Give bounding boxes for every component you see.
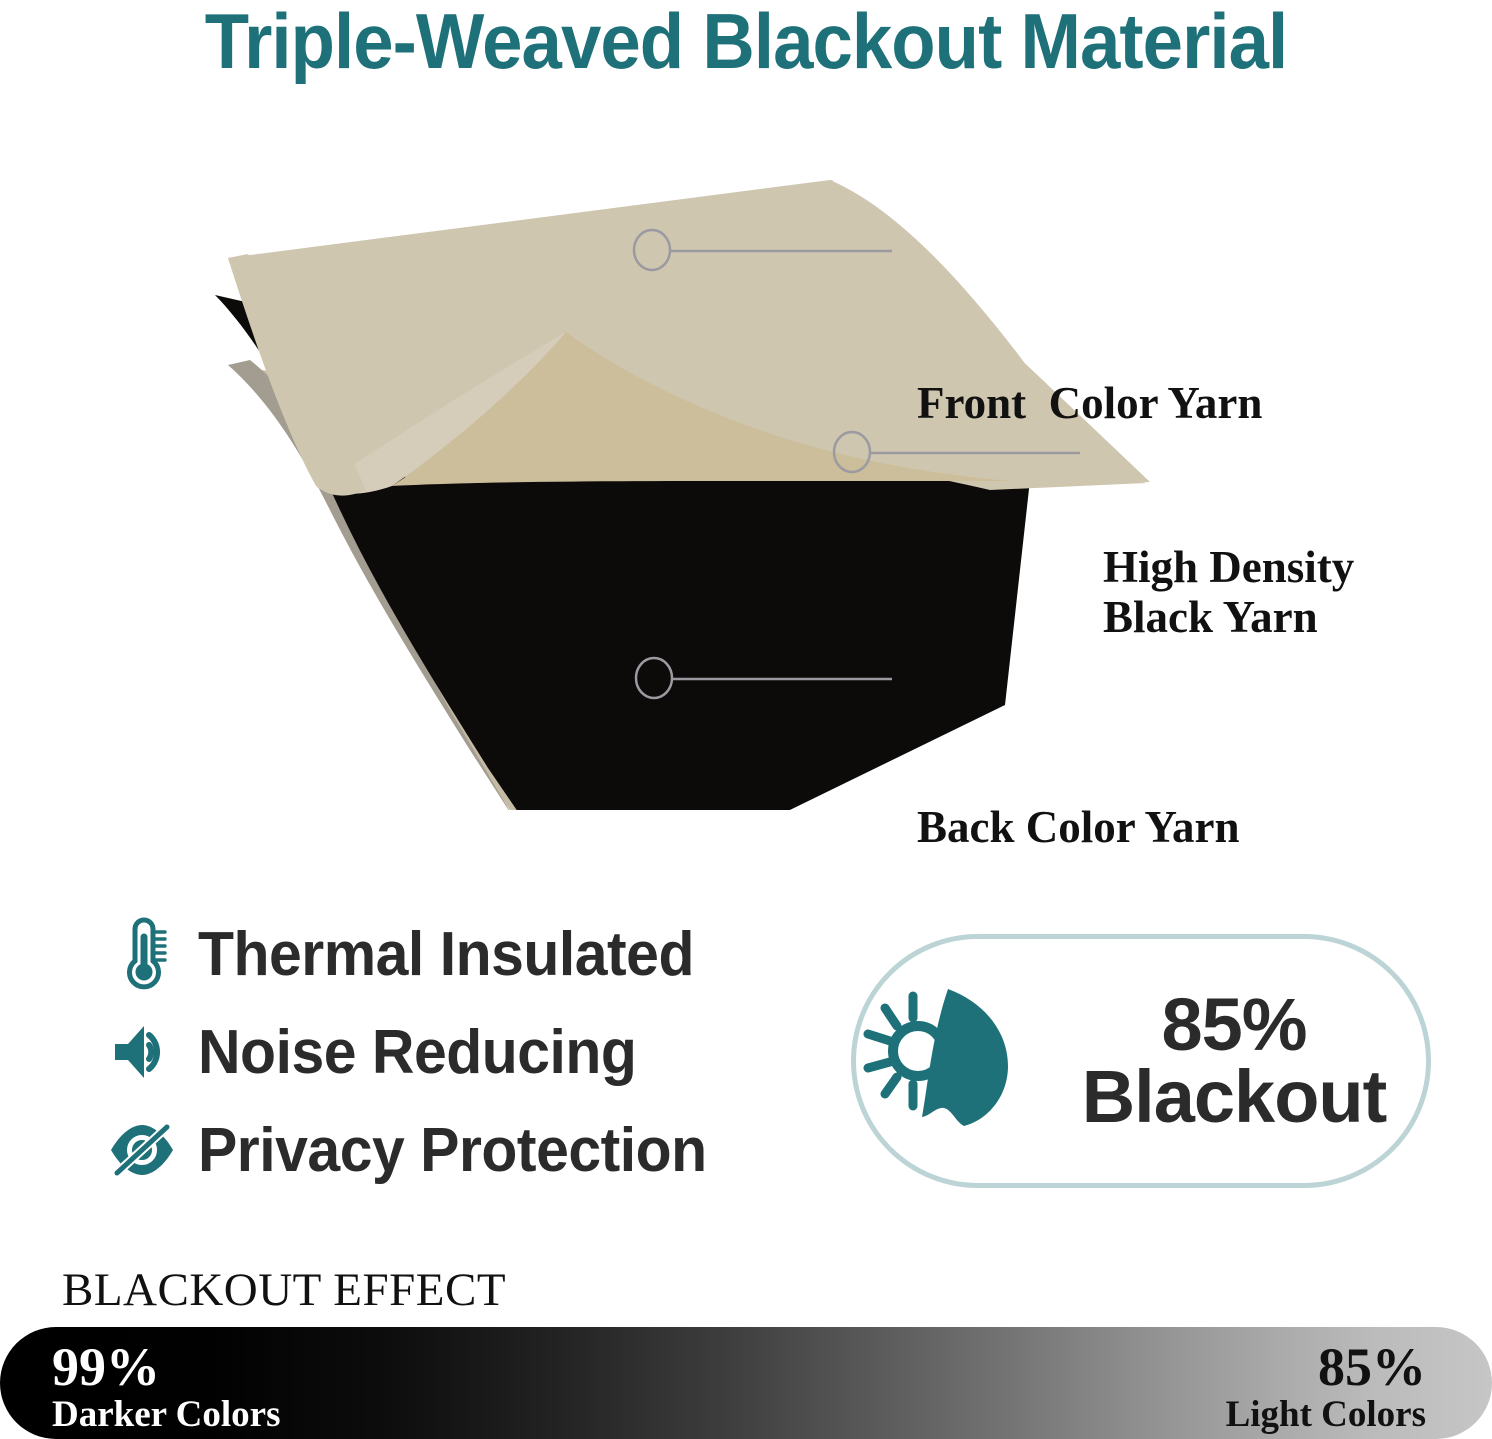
callout-label-back-color-yarn: Back Color Yarn: [917, 802, 1240, 852]
callout-label-high-density-black-yarn: High Density Black Yarn: [1103, 542, 1354, 643]
blackout-stat-darker-caption: Darker Colors: [52, 1396, 280, 1433]
blackout-stat-darker-value: 99%: [52, 1340, 280, 1394]
feature-row-privacy-protection: Privacy Protection: [108, 1101, 808, 1199]
feature-list: Thermal Insulated Noise Reducing Privacy…: [108, 905, 808, 1199]
feature-row-thermal-insulated: Thermal Insulated: [108, 905, 808, 1003]
badge-percent-value: 85%: [1161, 983, 1306, 1066]
badge-blackout-label: Blackout: [1082, 1055, 1387, 1138]
fabric-layer-diagram: Front Color Yarn High Density Black Yarn…: [0, 150, 1492, 810]
thermometer-icon: [108, 917, 176, 991]
page-title: Triple-Weaved Blackout Material: [52, 0, 1440, 87]
speaker-icon: [108, 1021, 176, 1083]
blackout-stat-light-caption: Light Colors: [1226, 1396, 1426, 1433]
blackout-stat-light-value: 85%: [1226, 1340, 1426, 1394]
blackout-effect-heading: BLACKOUT EFFECT: [62, 1263, 506, 1317]
feature-row-noise-reducing: Noise Reducing: [108, 1003, 808, 1101]
blackout-stat-darker-colors: 99% Darker Colors: [52, 1340, 280, 1433]
blackout-badge: 85% Blackout: [851, 934, 1431, 1188]
feature-label-privacy-protection: Privacy Protection: [198, 1115, 707, 1186]
badge-text: 85% Blackout: [1042, 989, 1426, 1133]
blackout-stat-light-colors: 85% Light Colors: [1226, 1340, 1426, 1433]
sun-behind-curtain-icon: [856, 984, 1024, 1139]
callout-label-front-color-yarn: Front Color Yarn: [917, 378, 1262, 428]
eye-off-icon: [108, 1123, 176, 1177]
feature-label-noise-reducing: Noise Reducing: [198, 1017, 636, 1088]
feature-label-thermal-insulated: Thermal Insulated: [198, 919, 694, 990]
